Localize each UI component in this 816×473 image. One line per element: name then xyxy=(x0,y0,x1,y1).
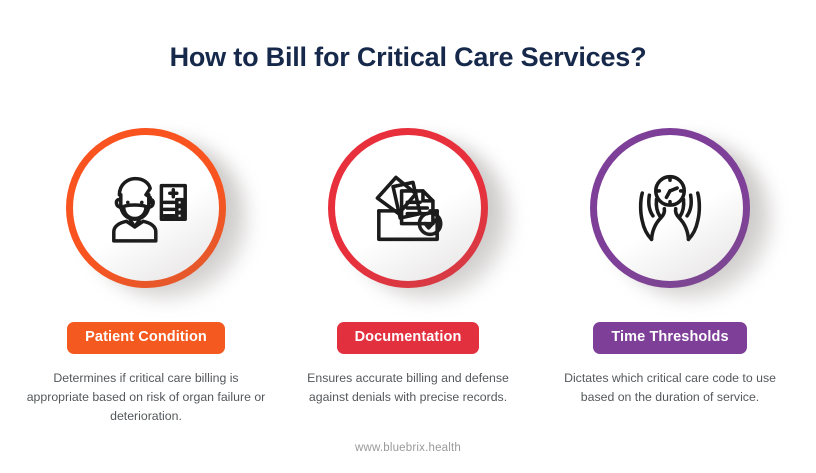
infographic-page: How to Bill for Critical Care Services? xyxy=(0,0,816,473)
icon-badge-time-thresholds xyxy=(576,118,764,293)
card-label-documentation[interactable]: Documentation xyxy=(337,322,480,354)
circle-ring xyxy=(328,128,488,288)
cards-row: Patient Condition Determines if critical… xyxy=(0,118,816,426)
circle-ring xyxy=(590,128,750,288)
card-time-thresholds: Time Thresholds Dictates which critical … xyxy=(550,118,790,426)
hands-holding-clock-icon xyxy=(628,171,712,245)
card-description-patient-condition: Determines if critical care billing is a… xyxy=(26,369,266,427)
card-description-documentation: Ensures accurate billing and defense aga… xyxy=(288,369,528,407)
card-documentation: Documentation Ensures accurate billing a… xyxy=(288,118,528,426)
page-title: How to Bill for Critical Care Services? xyxy=(0,42,816,73)
card-patient-condition: Patient Condition Determines if critical… xyxy=(26,118,266,426)
circle-ring xyxy=(66,128,226,288)
card-label-patient-condition[interactable]: Patient Condition xyxy=(67,322,225,354)
footer-website[interactable]: www.bluebrix.health xyxy=(0,442,816,454)
icon-badge-documentation xyxy=(314,118,502,293)
card-description-time-thresholds: Dictates which critical care code to use… xyxy=(550,369,790,407)
icon-badge-patient-condition xyxy=(52,118,240,293)
card-label-time-thresholds[interactable]: Time Thresholds xyxy=(593,322,746,354)
folder-documents-check-icon xyxy=(366,171,450,245)
patient-with-mask-and-chart-icon xyxy=(104,171,188,245)
